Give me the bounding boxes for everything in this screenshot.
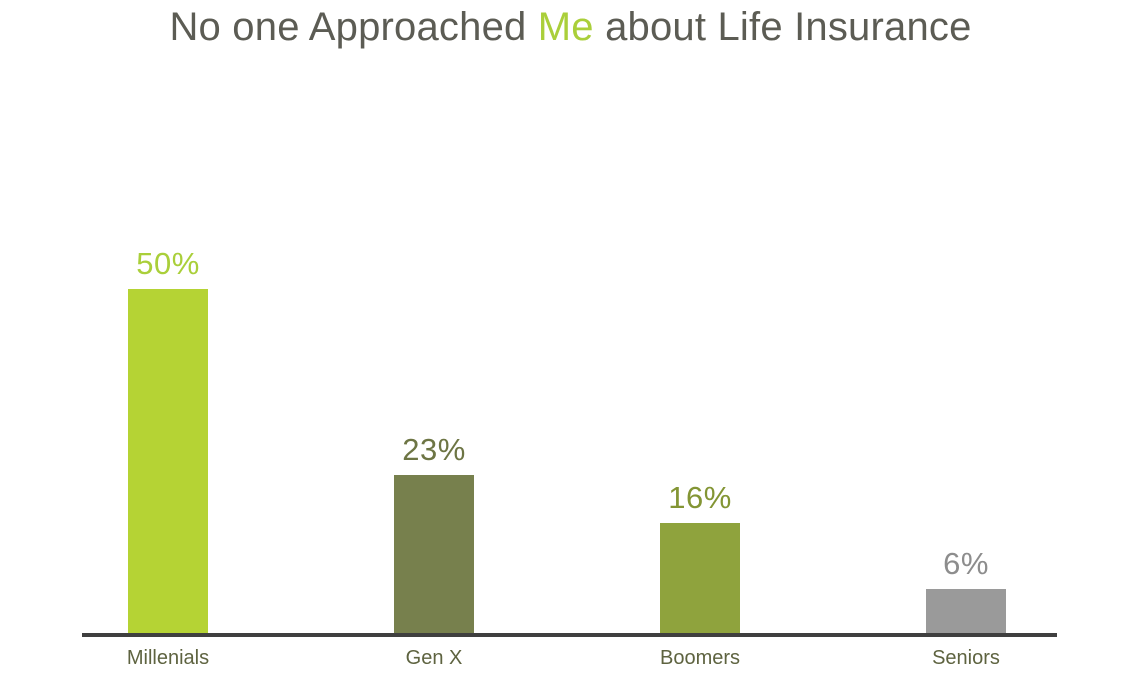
bar-gen-x[interactable] [394,475,474,633]
bar-group-millenials: 50% Millenials [58,0,278,700]
category-label-gen-x: Gen X [324,645,544,671]
bar-value-label-gen-x: 23% [324,433,544,467]
category-label-boomers: Boomers [590,645,810,671]
bar-group-gen-x: 23% Gen X [324,0,544,700]
bar-group-boomers: 16% Boomers [590,0,810,700]
bar-group-seniors: 6% Seniors [856,0,1076,700]
bar-boomers[interactable] [660,523,740,633]
category-label-seniors: Seniors [856,645,1076,671]
category-label-millenials: Millenials [58,645,278,671]
bar-chart-plot-area: 50% Millenials 23% Gen X 16% Boomers 6% … [0,0,1141,700]
bar-seniors[interactable] [926,589,1006,633]
bar-value-label-millenials: 50% [58,247,278,281]
bar-value-label-boomers: 16% [590,481,810,515]
x-axis-line [82,633,1057,637]
bar-millenials[interactable] [128,289,208,633]
bar-value-label-seniors: 6% [856,547,1076,581]
